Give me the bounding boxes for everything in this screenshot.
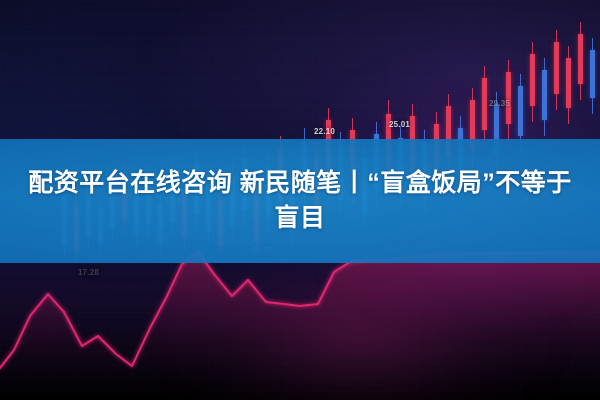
candle-body: [566, 58, 571, 108]
candle-body: [506, 72, 511, 124]
candlestick: [482, 66, 487, 148]
candlestick: [542, 58, 547, 136]
headline-block: 配资平台在线咨询 新民随笔丨“盲盒饭局”不等于 盲目: [0, 139, 600, 263]
stock-banner-image: 17.2818.0718.7522.1024.7825.0129.35 配资平台…: [0, 0, 600, 400]
candle-body: [482, 78, 487, 130]
candlestick: [566, 46, 571, 124]
price-label: 22.10: [314, 127, 335, 136]
trend-area-fill: [0, 252, 600, 400]
candle-body: [578, 34, 583, 84]
price-label: 29.35: [489, 99, 510, 108]
candlestick: [578, 22, 583, 100]
candle-body: [590, 50, 595, 98]
candlestick: [554, 30, 559, 110]
candlestick: [590, 38, 595, 114]
trend-area-chart: [0, 250, 600, 400]
candle-body: [530, 54, 535, 106]
headline-line-1: 配资平台在线咨询 新民随笔丨“盲盒饭局”不等于: [28, 167, 571, 200]
price-label: 25.01: [389, 120, 410, 129]
headline-line-2: 盲目: [274, 202, 325, 235]
candlestick: [530, 42, 535, 122]
candle-body: [518, 86, 523, 136]
candle-body: [542, 70, 547, 120]
candle-body: [554, 42, 559, 94]
